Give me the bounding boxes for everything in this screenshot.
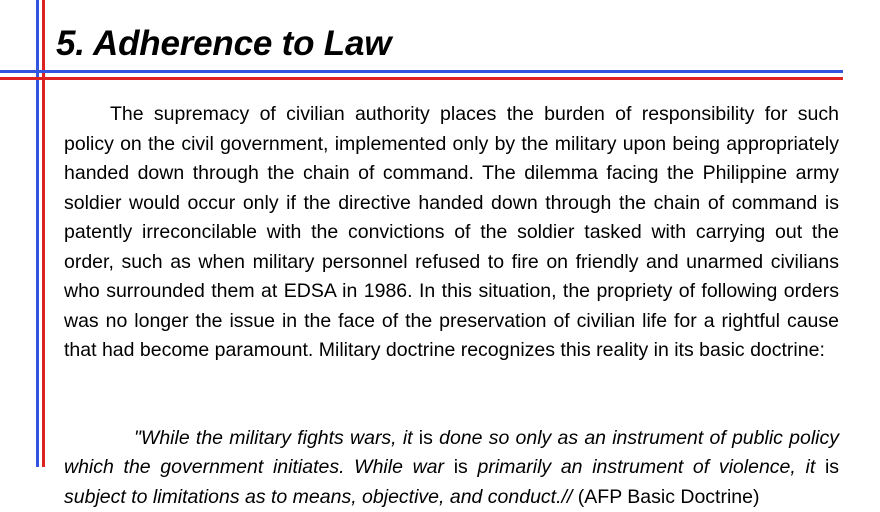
quote-segment-4-upright: is: [454, 456, 468, 478]
quote-paragraph: "While the military fights wars, it is d…: [64, 424, 839, 512]
horizontal-blue-rule: [0, 70, 843, 73]
quote-segment-2-upright: is: [419, 427, 433, 449]
quote-segment-5: primarily an instrument of violence, it: [478, 456, 816, 478]
slide-canvas: 5. Adherence to Law The supremacy of civ…: [0, 0, 880, 495]
horizontal-red-rule: [0, 77, 843, 80]
quote-segment-6-upright: is: [825, 456, 839, 478]
quote-attribution: (AFP Basic Doctrine): [578, 486, 760, 508]
quote-segment-7: subject to limitations as to means, obje…: [64, 486, 572, 508]
slide-title: 5. Adherence to Law: [56, 22, 391, 66]
vertical-red-rule: [42, 0, 45, 467]
vertical-blue-rule: [36, 0, 39, 467]
body-paragraph: The supremacy of civilian authority plac…: [64, 100, 839, 366]
quote-segment-1: "While the military fights wars, it: [134, 427, 413, 449]
slide-body: The supremacy of civilian authority plac…: [64, 100, 839, 512]
